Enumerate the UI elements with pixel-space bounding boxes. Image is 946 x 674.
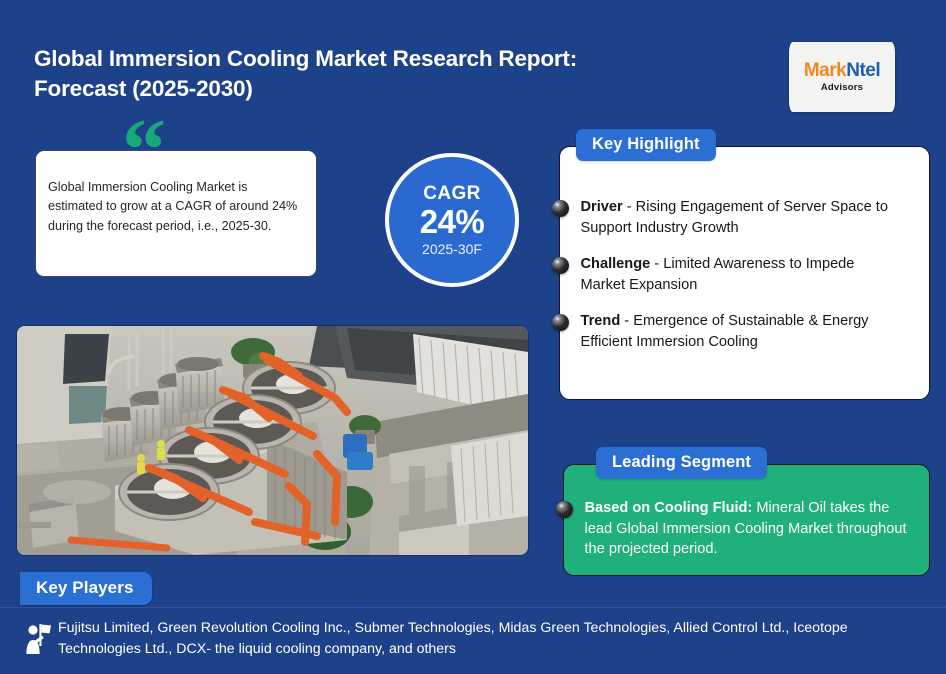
quote-text: Global Immersion Cooling Market is estim… (48, 178, 304, 236)
leading-segment-item-cooling-fluid: Based on Cooling Fluid: Mineral Oil take… (564, 498, 916, 560)
key-highlight-item-driver-text: Driver - Rising Engagement of Server Spa… (581, 197, 916, 238)
person-with-flag-icon (22, 621, 52, 655)
leading-segment-item-text: Based on Cooling Fluid: Mineral Oil take… (585, 498, 917, 560)
key-highlight-item-trend-text: Trend - Emergence of Sustainable & Energ… (581, 311, 911, 352)
leading-segment-list: Based on Cooling Fluid: Mineral Oil take… (564, 465, 929, 575)
key-highlight-item-trend-sep: - (620, 313, 633, 329)
key-highlight-item-trend-label: Trend (581, 313, 621, 329)
cagr-period: 2025-30F (422, 242, 482, 256)
key-highlight-item-trend: Trend - Emergence of Sustainable & Energ… (560, 311, 910, 352)
key-highlight-item-driver-label: Driver (581, 199, 623, 215)
logo-subtitle: Advisors (821, 82, 863, 93)
key-highlight-item-challenge: Challenge - Limited Awareness to Impede … (560, 254, 900, 295)
key-players-row: Fujitsu Limited, Green Revolution Coolin… (22, 618, 922, 659)
cagr-circle: CAGR 24% 2025-30F (385, 153, 519, 287)
logo-wordmark: MarkNtel (804, 61, 880, 80)
key-highlight-item-challenge-label: Challenge (581, 256, 651, 272)
key-highlight-badge: Key Highlight (576, 129, 716, 161)
key-players-text: Fujitsu Limited, Green Revolution Coolin… (58, 618, 903, 659)
cooling-towers-photo (16, 325, 529, 556)
bullet-sphere-icon (552, 200, 569, 217)
bullet-sphere-icon (552, 314, 569, 331)
brand-logo: MarkNtel Advisors (789, 42, 895, 112)
key-highlight-item-driver-sep: - (623, 199, 636, 215)
quote-mark-icon: “ (122, 116, 164, 186)
bullet-sphere-icon (556, 501, 573, 518)
logo-wordmark-mark: Mark (804, 60, 846, 81)
leading-segment-badge: Leading Segment (596, 447, 767, 479)
cagr-value: 24% (420, 204, 485, 240)
logo-wordmark-ntel: Ntel (846, 60, 880, 81)
leading-segment-panel: Based on Cooling Fluid: Mineral Oil take… (563, 464, 930, 576)
key-highlight-item-driver: Driver - Rising Engagement of Server Spa… (560, 197, 915, 238)
key-highlight-item-challenge-text: Challenge - Limited Awareness to Impede … (581, 254, 901, 295)
cagr-label: CAGR (423, 184, 481, 203)
footer-divider (0, 607, 946, 608)
quote-card: Global Immersion Cooling Market is estim… (35, 150, 317, 277)
key-players-badge: Key Players (20, 572, 152, 605)
infographic-canvas: Global Immersion Cooling Market Research… (0, 0, 946, 674)
key-highlight-panel: Driver - Rising Engagement of Server Spa… (559, 146, 930, 400)
cooling-towers-illustration (17, 326, 528, 555)
page-title-line1: Global Immersion Cooling Market Research… (34, 44, 694, 74)
bullet-sphere-icon (552, 257, 569, 274)
leading-segment-item-label: Based on Cooling Fluid: (585, 500, 753, 516)
page-title-line2: Forecast (2025-2030) (34, 74, 694, 104)
key-highlight-list: Driver - Rising Engagement of Server Spa… (560, 147, 929, 399)
page-title: Global Immersion Cooling Market Research… (34, 44, 694, 104)
key-highlight-item-challenge-sep: - (650, 256, 663, 272)
